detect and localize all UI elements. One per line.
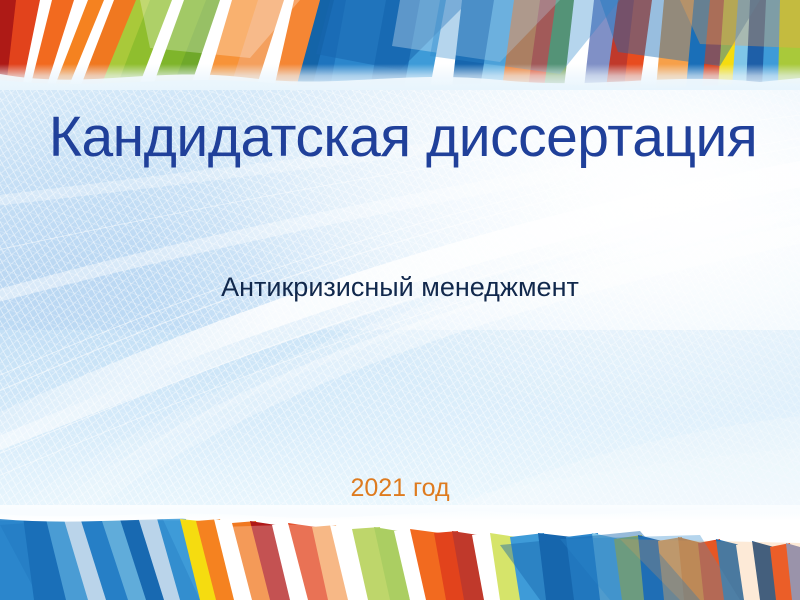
geometric-shards-top-icon: [0, 0, 800, 90]
bottom-decor-band: [0, 505, 800, 600]
slide-year: 2021 год: [0, 474, 800, 503]
top-decor-band: [0, 0, 800, 90]
presentation-slide: Кандидатская диссертация Антикризисный м…: [0, 0, 800, 600]
slide-subtitle: Антикризисный менеджмент: [0, 272, 800, 303]
geometric-shards-bottom-icon: [0, 505, 800, 600]
slide-title: Кандидатская диссертация: [8, 108, 798, 168]
